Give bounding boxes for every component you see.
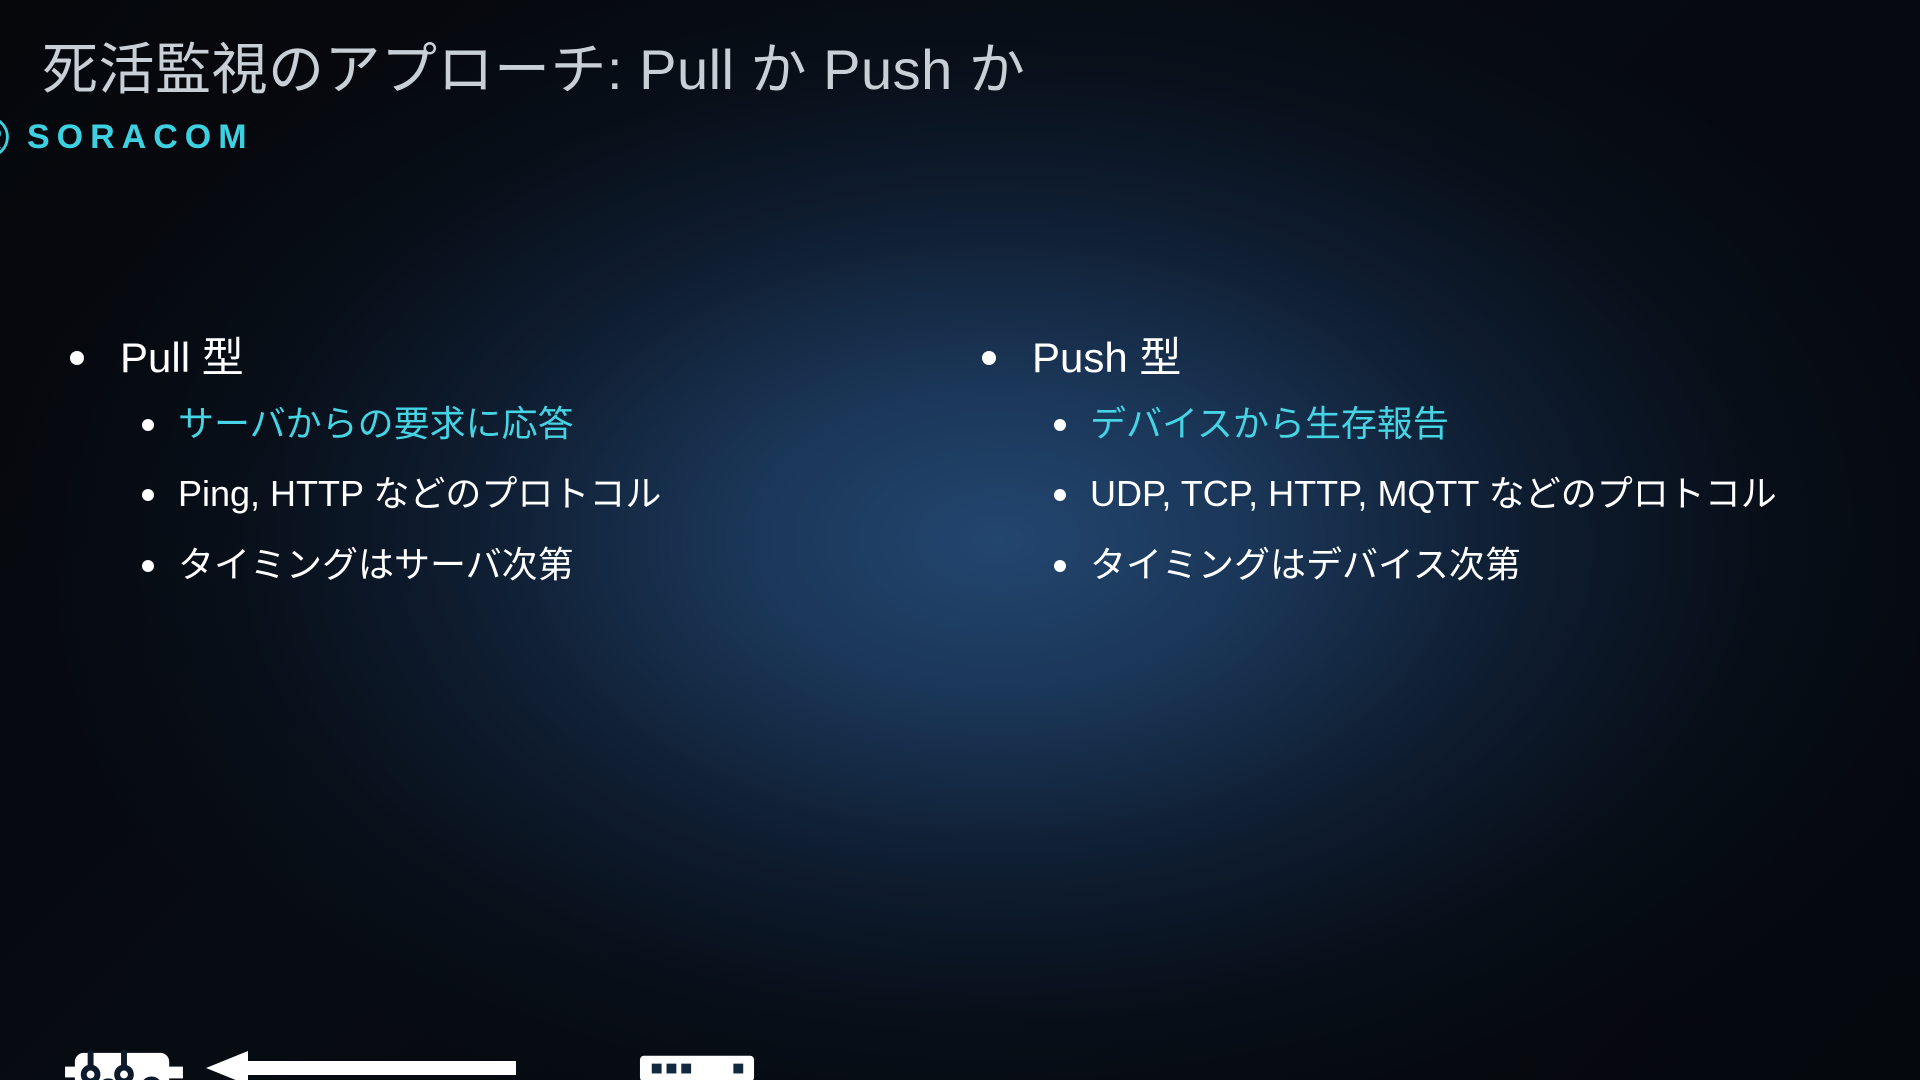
page-title: 死活監視のアプローチ: Pull か Push か xyxy=(42,38,1920,102)
soracom-logo-icon xyxy=(0,114,11,160)
slide-canvas: 死活監視のアプローチ: Pull か Push か SORACOM Pull 型… xyxy=(0,0,1920,1080)
column-push-bullet-list: デバイスから生存報告 UDP, TCP, HTTP, MQTT などのプロトコル… xyxy=(960,404,1850,585)
bullet-pull-3: タイミングはサーバ次第 xyxy=(120,545,938,585)
content-columns: Pull 型 サーバからの要求に応答 Ping, HTTP などのプロトコル タ… xyxy=(0,335,1920,615)
column-pull-bullet-list: サーバからの要求に応答 Ping, HTTP などのプロトコル タイミングはサー… xyxy=(48,404,938,585)
chip-icon xyxy=(60,1045,188,1080)
column-pull: Pull 型 サーバからの要求に応答 Ping, HTTP などのプロトコル タ… xyxy=(48,335,938,615)
bullet-push-1: デバイスから生存報告 xyxy=(1032,404,1850,444)
column-push-heading: Push 型 xyxy=(960,335,1850,381)
bullet-pull-1: サーバからの要求に応答 xyxy=(120,404,938,444)
bullet-push-3: タイミングはデバイス次第 xyxy=(1032,545,1850,585)
brand-logo: SORACOM xyxy=(0,114,1885,160)
server-rack-icon xyxy=(633,1053,761,1080)
brand-name: SORACOM xyxy=(27,118,254,157)
bullet-pull-2: Ping, HTTP などのプロトコル xyxy=(120,474,938,514)
arrow-left-icon xyxy=(206,1051,516,1080)
column-pull-heading: Pull 型 xyxy=(48,335,938,381)
bullet-push-2: UDP, TCP, HTTP, MQTT などのプロトコル xyxy=(1032,474,1850,514)
diagram-pull-flow-request: 生きてる？ xyxy=(206,1051,516,1080)
diagram-pull: Device 生きてる？ 生きてるよ！ xyxy=(60,1045,780,1080)
diagram-pull-server-node: Server xyxy=(633,1053,761,1080)
diagram-pull-device-node: Device xyxy=(60,1045,188,1080)
column-push: Push 型 デバイスから生存報告 UDP, TCP, HTTP, MQTT な… xyxy=(960,335,1850,615)
